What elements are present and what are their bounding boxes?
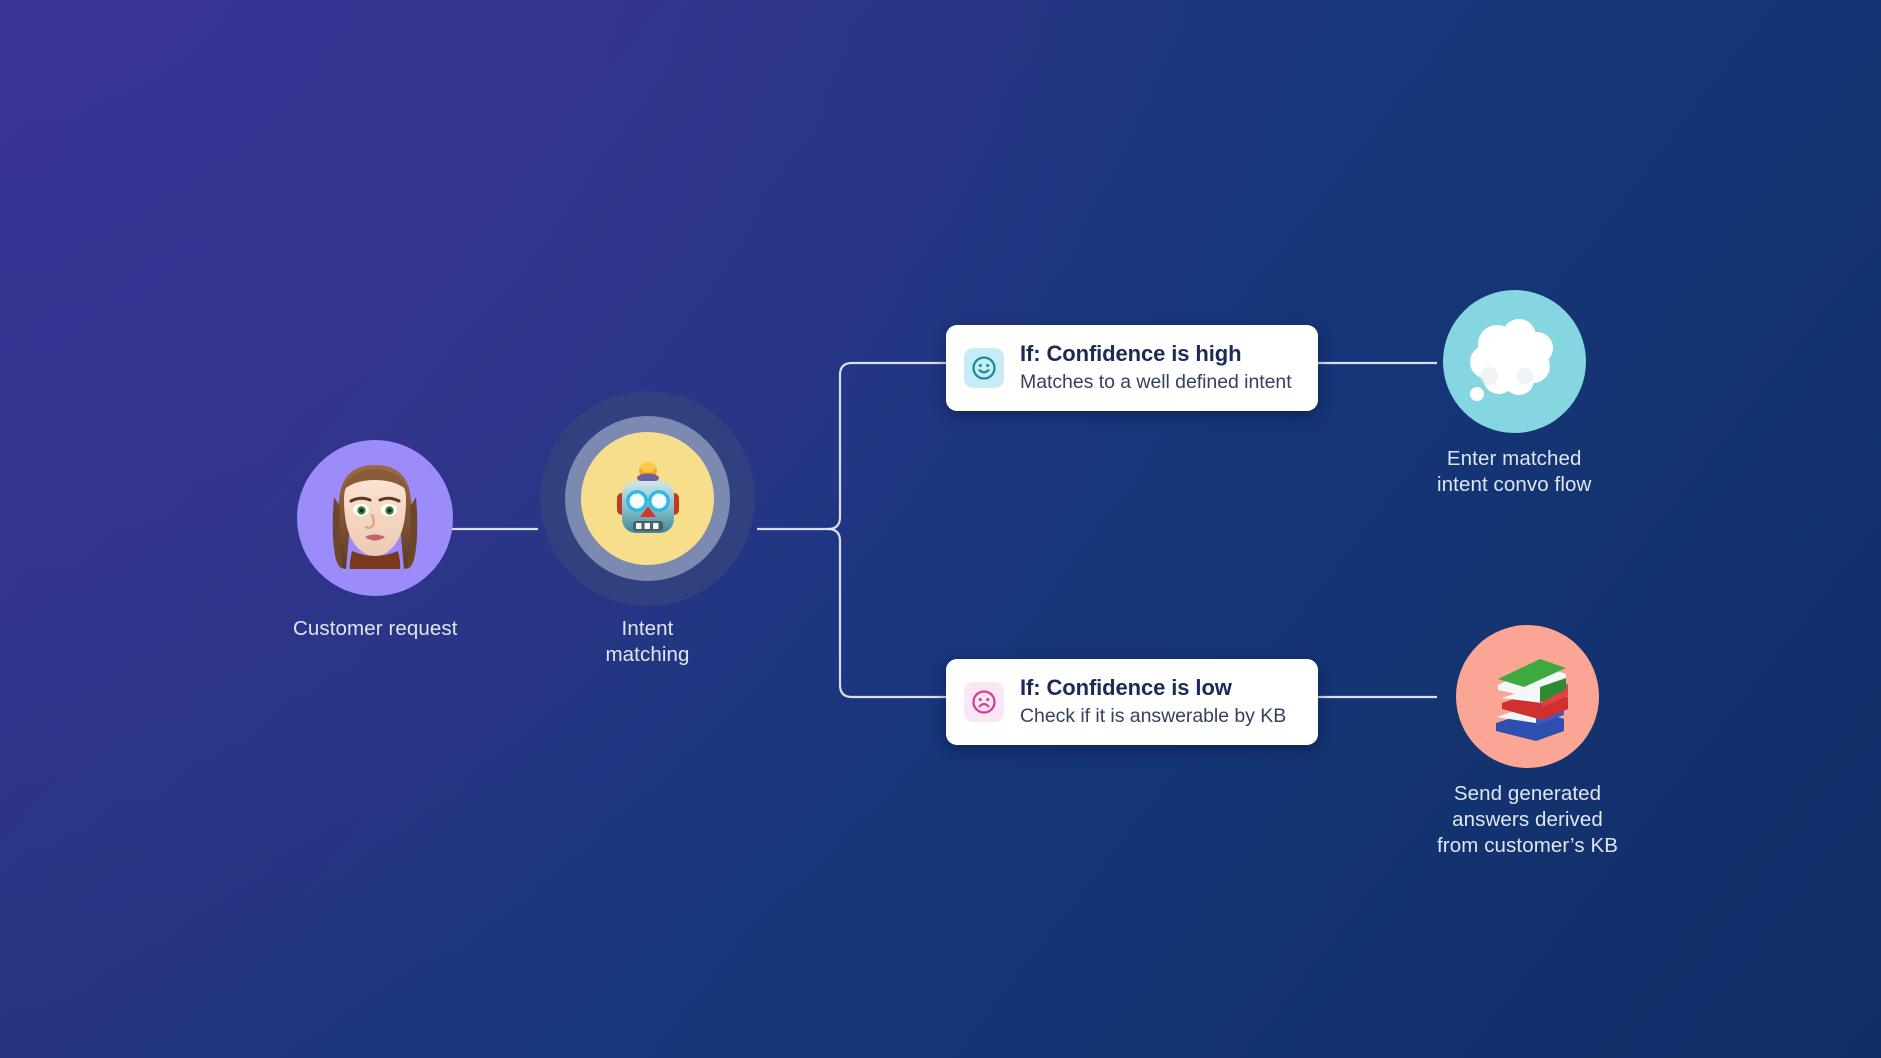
flow-diagram-canvas: Customer request [0, 0, 1881, 1058]
connector-lines [0, 0, 1881, 1058]
connector-branch-to-high-card [828, 363, 946, 529]
cloud-node-circle [1443, 290, 1586, 433]
node-send-generated-answers[interactable]: Send generated answers derived from cust… [1437, 625, 1618, 860]
node-intent-matching[interactable]: Intent matching [540, 391, 755, 668]
frowning-face-icon [964, 682, 1004, 722]
card-confidence-low-text: If: Confidence is low Check if it is ans… [1020, 675, 1286, 729]
card-confidence-low[interactable]: If: Confidence is low Check if it is ans… [946, 659, 1318, 745]
node-customer-request-label: Customer request [293, 616, 458, 642]
card-confidence-high-text: If: Confidence is high Matches to a well… [1020, 341, 1292, 395]
thought-balloon-icon [1459, 310, 1569, 414]
node-intent-matching-label: Intent matching [606, 616, 690, 668]
woman-avatar-memoji-icon [310, 453, 440, 583]
card-confidence-low-subtitle: Check if it is answerable by KB [1020, 704, 1286, 729]
card-confidence-high-title: If: Confidence is high [1020, 341, 1292, 368]
card-confidence-low-title: If: Confidence is low [1020, 675, 1286, 702]
connector-branch-to-low-card [828, 529, 946, 697]
books-node-circle [1456, 625, 1599, 768]
node-customer-request[interactable]: Customer request [293, 440, 458, 642]
node-enter-matched-intent-flow[interactable]: Enter matched intent convo flow [1437, 290, 1591, 498]
node-enter-matched-intent-flow-label: Enter matched intent convo flow [1437, 446, 1591, 498]
stacked-books-icon [1474, 645, 1582, 749]
card-confidence-high[interactable]: If: Confidence is high Matches to a well… [946, 325, 1318, 411]
smiling-face-icon [964, 348, 1004, 388]
customer-avatar-circle [297, 440, 453, 596]
card-confidence-high-subtitle: Matches to a well defined intent [1020, 370, 1292, 395]
node-send-generated-answers-label: Send generated answers derived from cust… [1437, 781, 1618, 860]
robot-face-icon [600, 451, 696, 547]
intent-halo-circle [540, 391, 755, 606]
